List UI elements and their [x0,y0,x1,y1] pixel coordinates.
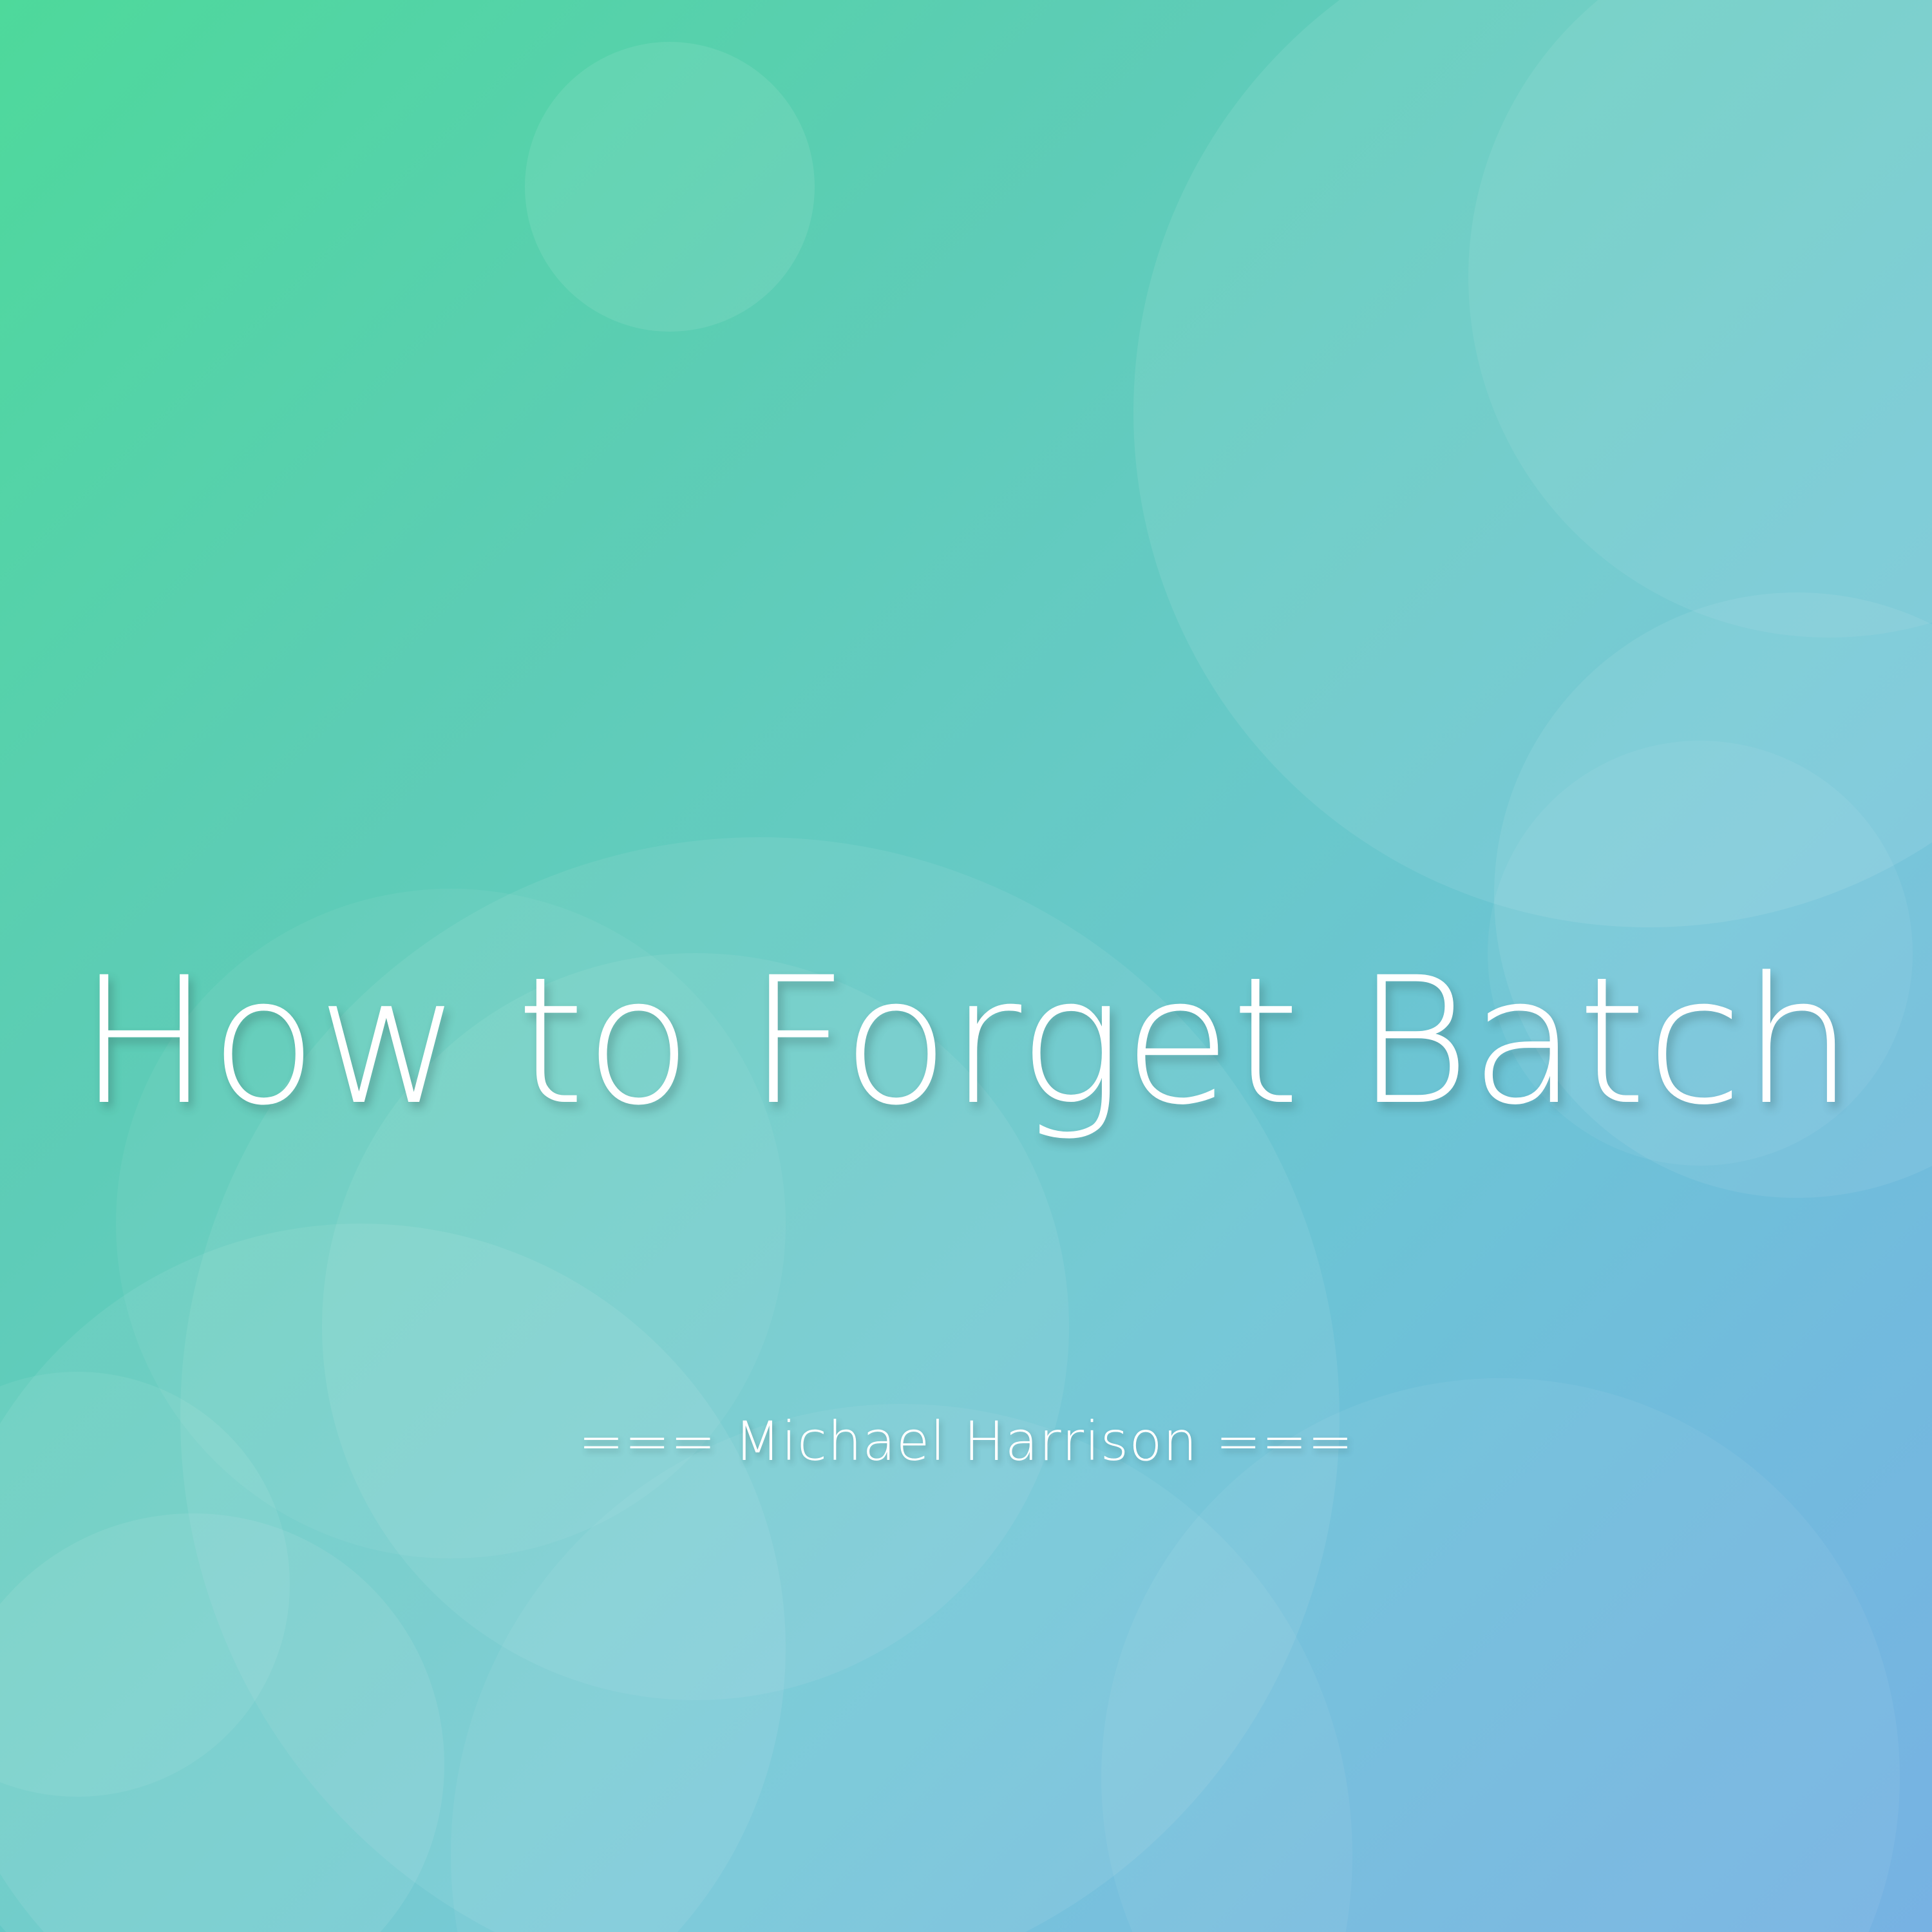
title-slide: How to Forget Batch === Michael Harrison… [0,0,1932,1932]
slide-subtitle-author: === Michael Harrison === [0,1414,1932,1468]
slide-content: How to Forget Batch === Michael Harrison… [0,0,1932,1932]
slide-title: How to Forget Batch [0,954,1932,1130]
